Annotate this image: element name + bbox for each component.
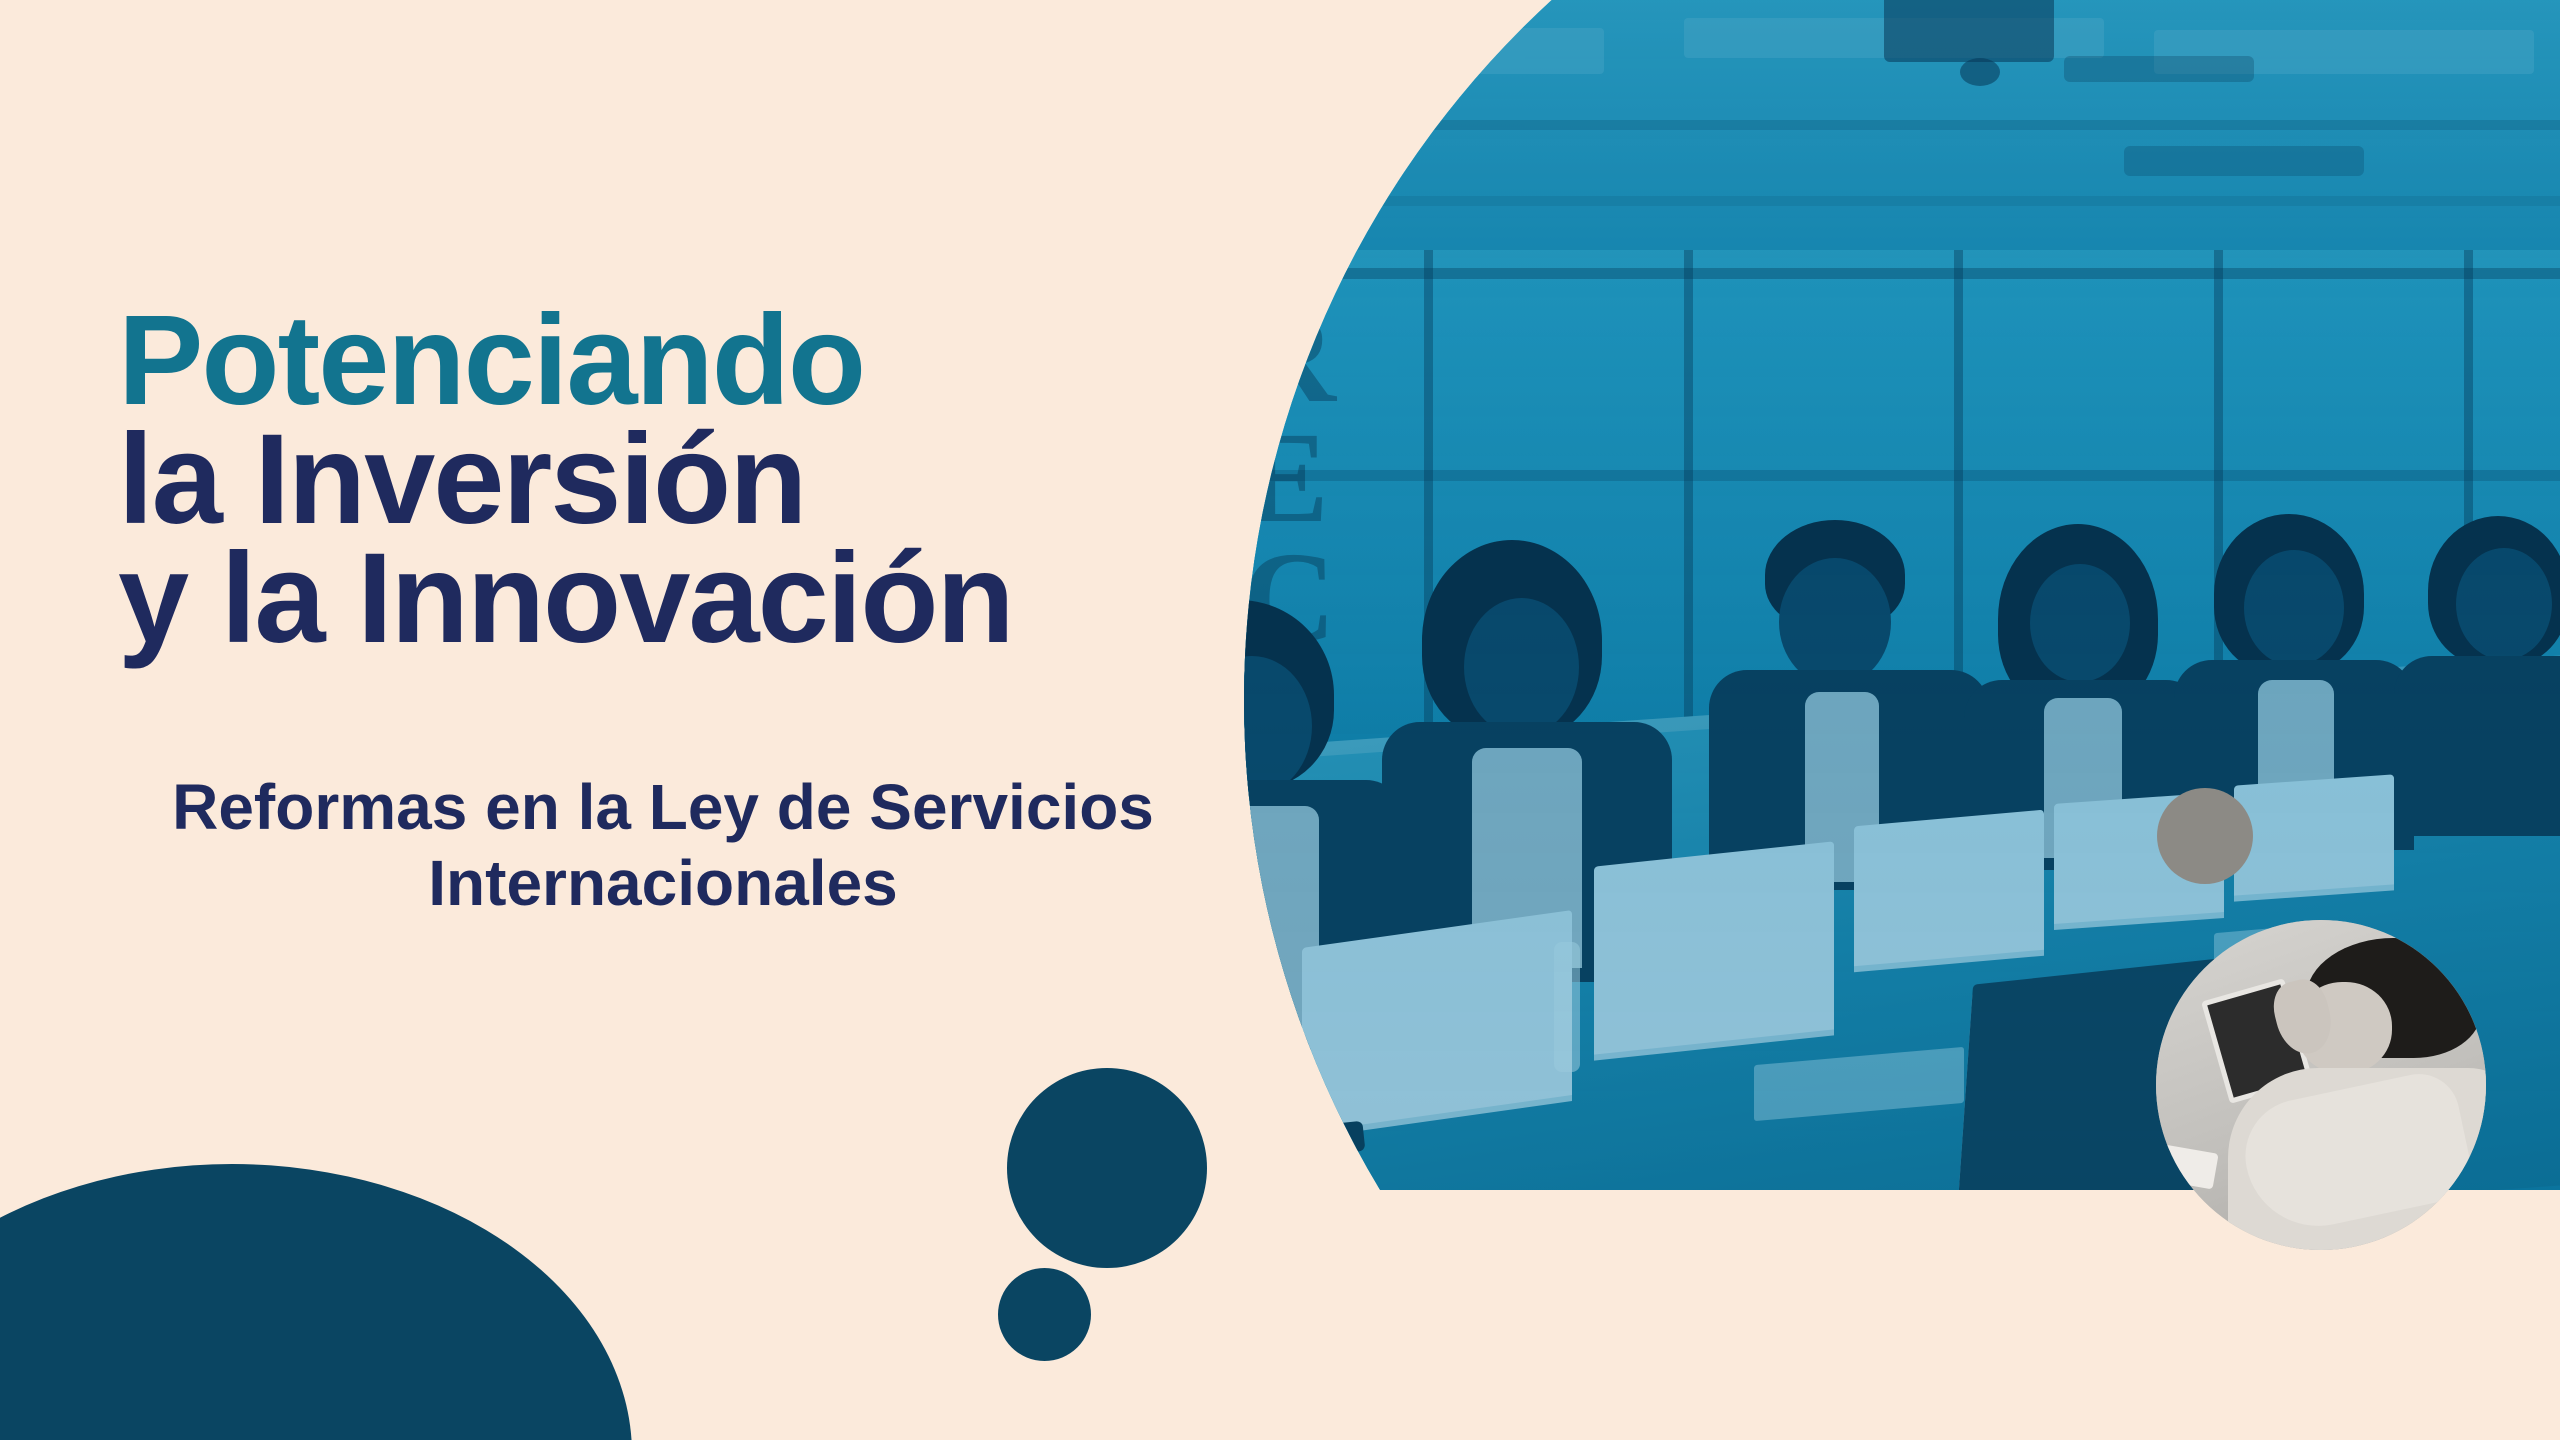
headline-line-2: la Inversión xyxy=(118,420,1348,539)
grey-circle-accent xyxy=(2157,788,2253,884)
subtitle: Reformas en la Ley de Servicios Internac… xyxy=(118,770,1208,921)
inset-photo-circle xyxy=(2156,920,2486,1250)
text-block: Potenciando la Inversión y la Innovación… xyxy=(0,0,1360,1440)
headline-line-3: y la Innovación xyxy=(118,539,1348,658)
presentation-slide: R E C xyxy=(0,0,2560,1440)
subtitle-line-2: Internacionales xyxy=(118,846,1208,922)
headline-line-1: Potenciando xyxy=(118,301,1348,420)
page-title: Potenciando la Inversión y la Innovación xyxy=(118,301,1348,658)
subtitle-line-1: Reformas en la Ley de Servicios xyxy=(172,771,1154,843)
